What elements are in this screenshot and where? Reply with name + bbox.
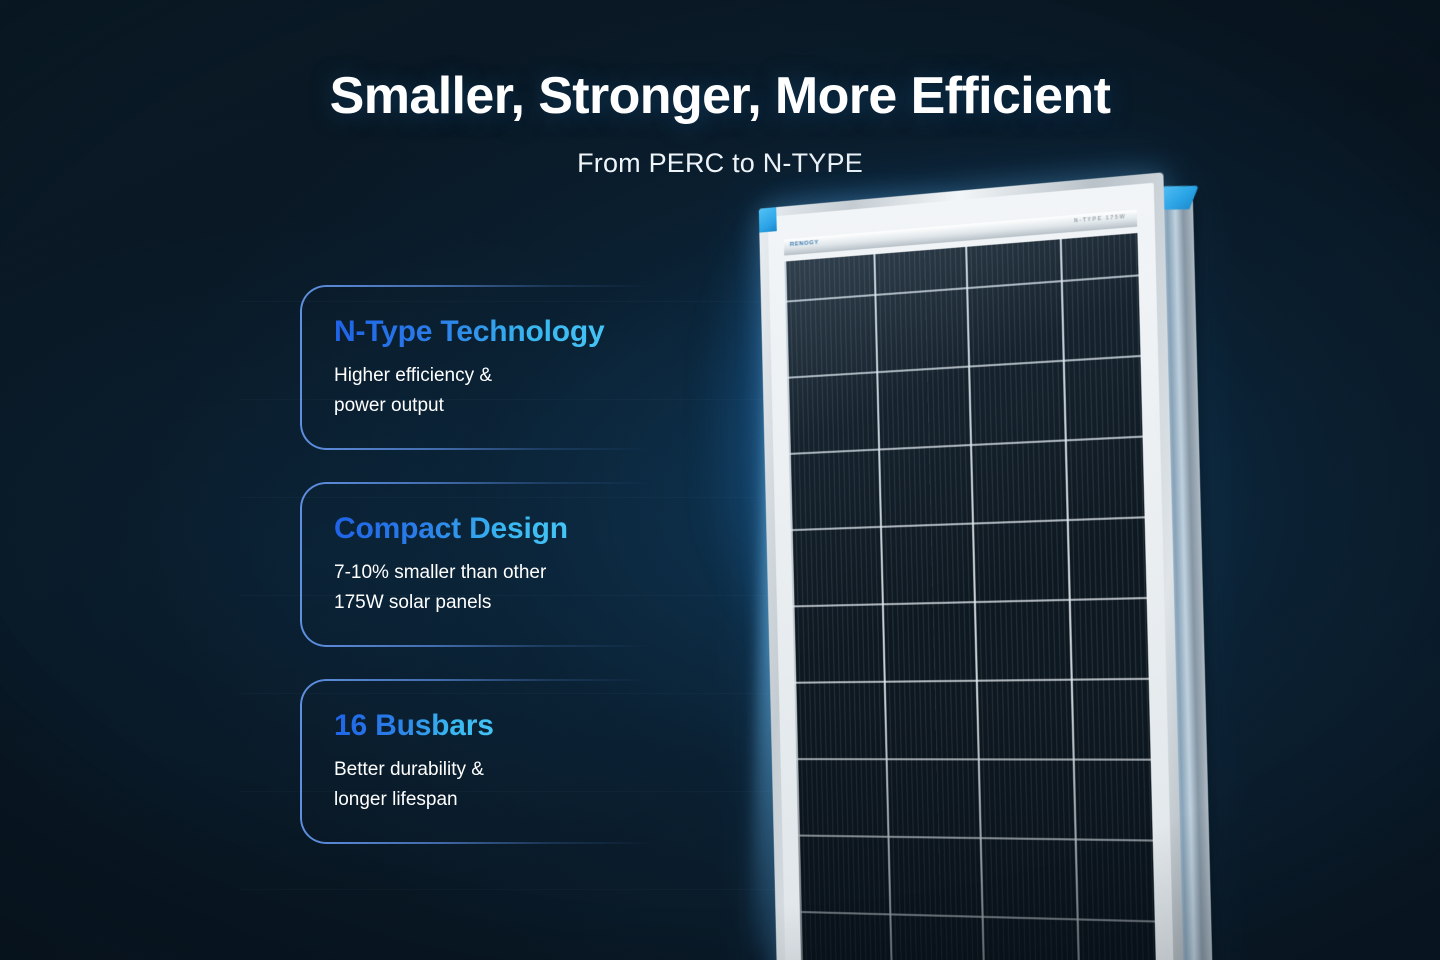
panel-cell-grid — [784, 233, 1156, 960]
feature-card-16-busbars[interactable]: 16 Busbars Better durability & longer li… — [300, 679, 700, 844]
header: Smaller, Stronger, More Efficient From P… — [0, 66, 1440, 179]
feature-card-description-line-2: longer lifespan — [334, 785, 700, 815]
feature-card-description-line-2: 175W solar panels — [334, 588, 700, 618]
panel-corner-cap-left-icon — [759, 205, 777, 233]
feature-card-description: Better durability & longer lifespan — [334, 755, 700, 815]
feature-card-title: N-Type Technology — [334, 315, 605, 349]
page-background: Smaller, Stronger, More Efficient From P… — [0, 0, 1440, 960]
feature-card-description-line-1: Better durability & — [334, 755, 700, 785]
page-subtitle: From PERC to N-TYPE — [0, 148, 1440, 179]
feature-card-compact-design[interactable]: Compact Design 7-10% smaller than other … — [300, 482, 700, 647]
solar-panel-image: RENOGY N-TYPE 175W — [690, 190, 1230, 960]
solar-panel-body: RENOGY N-TYPE 175W — [759, 172, 1185, 960]
feature-card-list: N-Type Technology Higher efficiency & po… — [300, 285, 700, 876]
feature-card-description: Higher efficiency & power output — [334, 361, 700, 421]
panel-cell-laminate — [784, 233, 1156, 960]
feature-card-description-line-1: Higher efficiency & — [334, 361, 700, 391]
feature-card-description-line-2: power output — [334, 391, 700, 421]
feature-card-description-line-1: 7-10% smaller than other — [334, 558, 700, 588]
panel-frame-inner: RENOGY N-TYPE 175W — [768, 183, 1175, 960]
feature-card-n-type-technology[interactable]: N-Type Technology Higher efficiency & po… — [300, 285, 700, 450]
page-title: Smaller, Stronger, More Efficient — [0, 66, 1440, 126]
panel-frame: RENOGY N-TYPE 175W — [759, 172, 1185, 960]
feature-card-title: 16 Busbars — [334, 709, 494, 743]
feature-card-description: 7-10% smaller than other 175W solar pane… — [334, 558, 700, 618]
feature-card-title: Compact Design — [334, 512, 568, 546]
